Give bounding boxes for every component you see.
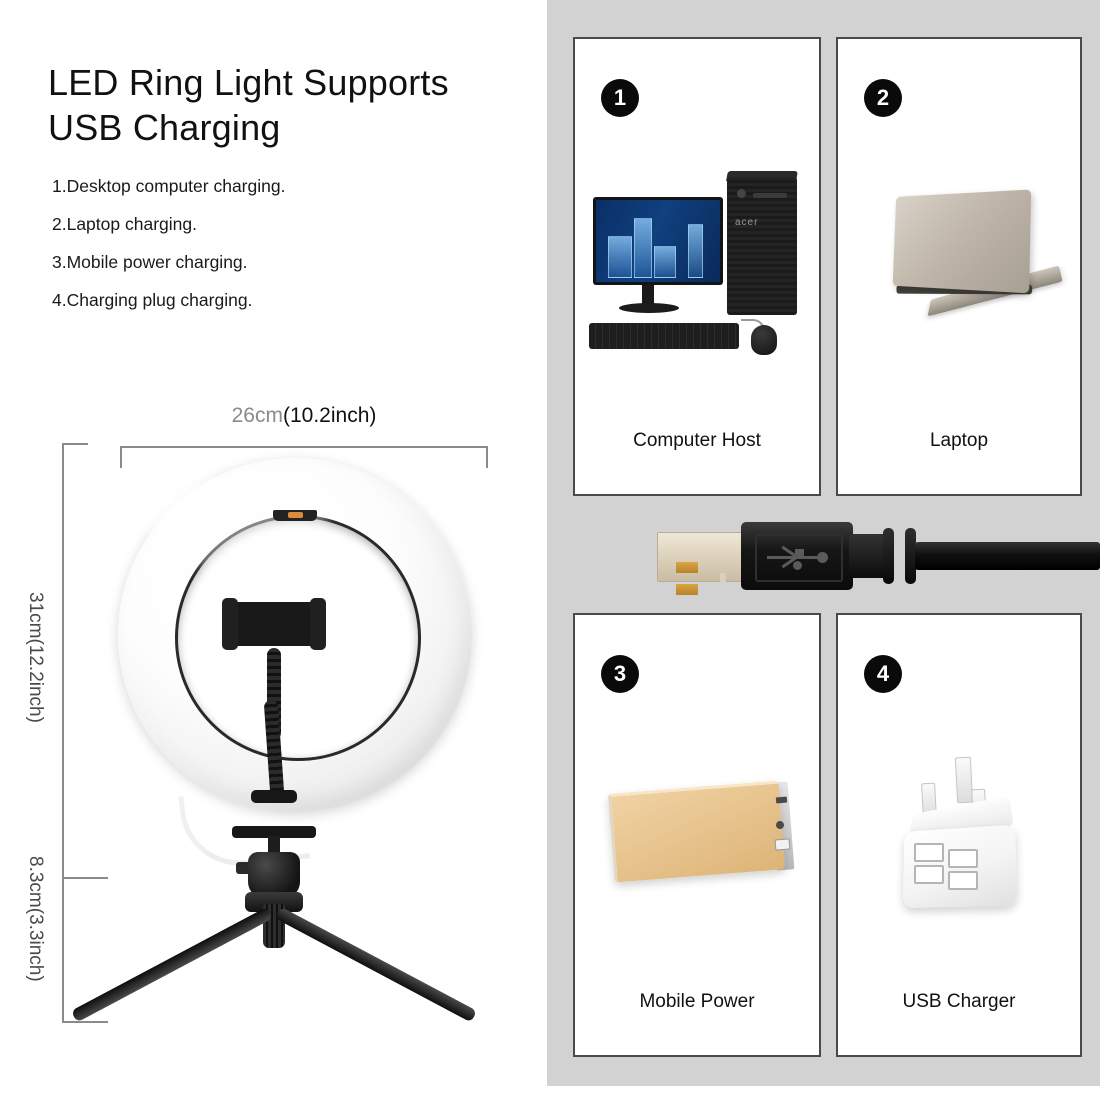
page-title: LED Ring Light Supports USB Charging	[48, 60, 518, 151]
power-bank-icon	[575, 735, 819, 965]
card-mobile-power: 3 Mobile Power	[573, 613, 821, 1057]
compatibility-panel: 1 acer	[547, 0, 1100, 1086]
width-cm-value: 26cm	[232, 404, 283, 427]
card-badge-2: 2	[864, 79, 902, 117]
title-line-1: LED Ring Light Supports	[48, 60, 518, 105]
led-indicator	[288, 512, 303, 518]
power-bank-micro-usb-port	[776, 797, 787, 804]
charger-usb-port	[914, 843, 944, 862]
usb-contact-pin	[676, 562, 698, 573]
charger-usb-port	[948, 871, 978, 890]
usb-cord	[915, 542, 1100, 570]
clamp-jaw-left	[222, 598, 238, 650]
dimension-cap-right	[486, 446, 488, 468]
tower-brand-logo: acer	[735, 217, 758, 228]
card-usb-charger: 4 USB Charger	[836, 613, 1082, 1057]
usb-contact-pin	[676, 584, 698, 595]
charger-usb-port	[948, 849, 978, 868]
monitor-base	[619, 303, 679, 313]
power-bank-usb-port	[775, 838, 791, 850]
plug-pin-earth	[955, 757, 973, 804]
feature-item-1: 1.Desktop computer charging.	[52, 178, 512, 196]
dimension-tick-top	[62, 443, 88, 445]
tower-drive-slot	[753, 193, 787, 198]
screen-building	[688, 224, 703, 278]
keyboard-icon	[589, 323, 739, 349]
screen-building	[654, 246, 676, 278]
horizontal-dimension-line	[120, 446, 488, 448]
phone-holder-clamp	[222, 598, 326, 650]
clamp-jaw-right	[310, 598, 326, 650]
monitor-icon	[593, 197, 723, 285]
card-caption-2: Laptop	[838, 430, 1080, 452]
dimension-tick-middle	[62, 877, 108, 879]
vertical-dimension-line	[62, 443, 64, 1023]
usb-connector-housing	[741, 522, 853, 590]
feature-item-2: 2.Laptop charging.	[52, 216, 512, 234]
laptop-lid	[893, 189, 1031, 293]
height-base-label: 8.3cm(3.3inch)	[24, 856, 46, 982]
computer-host-icon: acer	[575, 159, 819, 389]
left-column: LED Ring Light Supports USB Charging 1.D…	[0, 0, 547, 1100]
usb-strain-ring	[883, 528, 894, 584]
usb-trident-icon	[767, 548, 829, 566]
usb-connector-notch	[720, 573, 726, 582]
height-total-label: 31cm(12.2inch)	[24, 592, 46, 723]
clamp-body	[230, 602, 318, 646]
tripod-leg-right	[274, 907, 476, 1023]
card-caption-4: USB Charger	[838, 991, 1080, 1013]
charger-usb-port	[914, 865, 944, 884]
monitor-stand	[642, 285, 654, 305]
usb-charger-icon	[838, 735, 1080, 965]
infographic-page: LED Ring Light Supports USB Charging 1.D…	[0, 0, 1100, 1100]
monitor-screen	[596, 200, 720, 282]
card-computer-host: 1 acer	[573, 37, 821, 496]
width-label: 26cm(10.2inch)	[0, 404, 608, 428]
screen-building	[634, 218, 652, 278]
screen-building	[608, 236, 632, 278]
usb-connector-metal-shell	[657, 532, 745, 582]
tower-power-button	[737, 189, 746, 198]
card-badge-4: 4	[864, 655, 902, 693]
laptop-icon	[838, 159, 1080, 389]
card-badge-3: 3	[601, 655, 639, 693]
mouse-icon	[751, 325, 777, 355]
feature-item-3: 3.Mobile power charging.	[52, 254, 512, 272]
tripod-leg-left	[70, 907, 272, 1023]
card-laptop: 2 Laptop	[836, 37, 1082, 496]
feature-list: 1.Desktop computer charging. 2.Laptop ch…	[52, 178, 512, 330]
feature-item-4: 4.Charging plug charging.	[52, 292, 512, 310]
usb-cable-illustration	[657, 512, 1100, 600]
power-bank-body	[608, 780, 785, 882]
width-inch-value: (10.2inch)	[283, 404, 376, 427]
card-caption-3: Mobile Power	[575, 991, 819, 1013]
card-badge-1: 1	[601, 79, 639, 117]
title-line-2: USB Charging	[48, 105, 518, 150]
dimension-tick-bottom	[62, 1021, 108, 1023]
card-caption-1: Computer Host	[575, 430, 819, 452]
